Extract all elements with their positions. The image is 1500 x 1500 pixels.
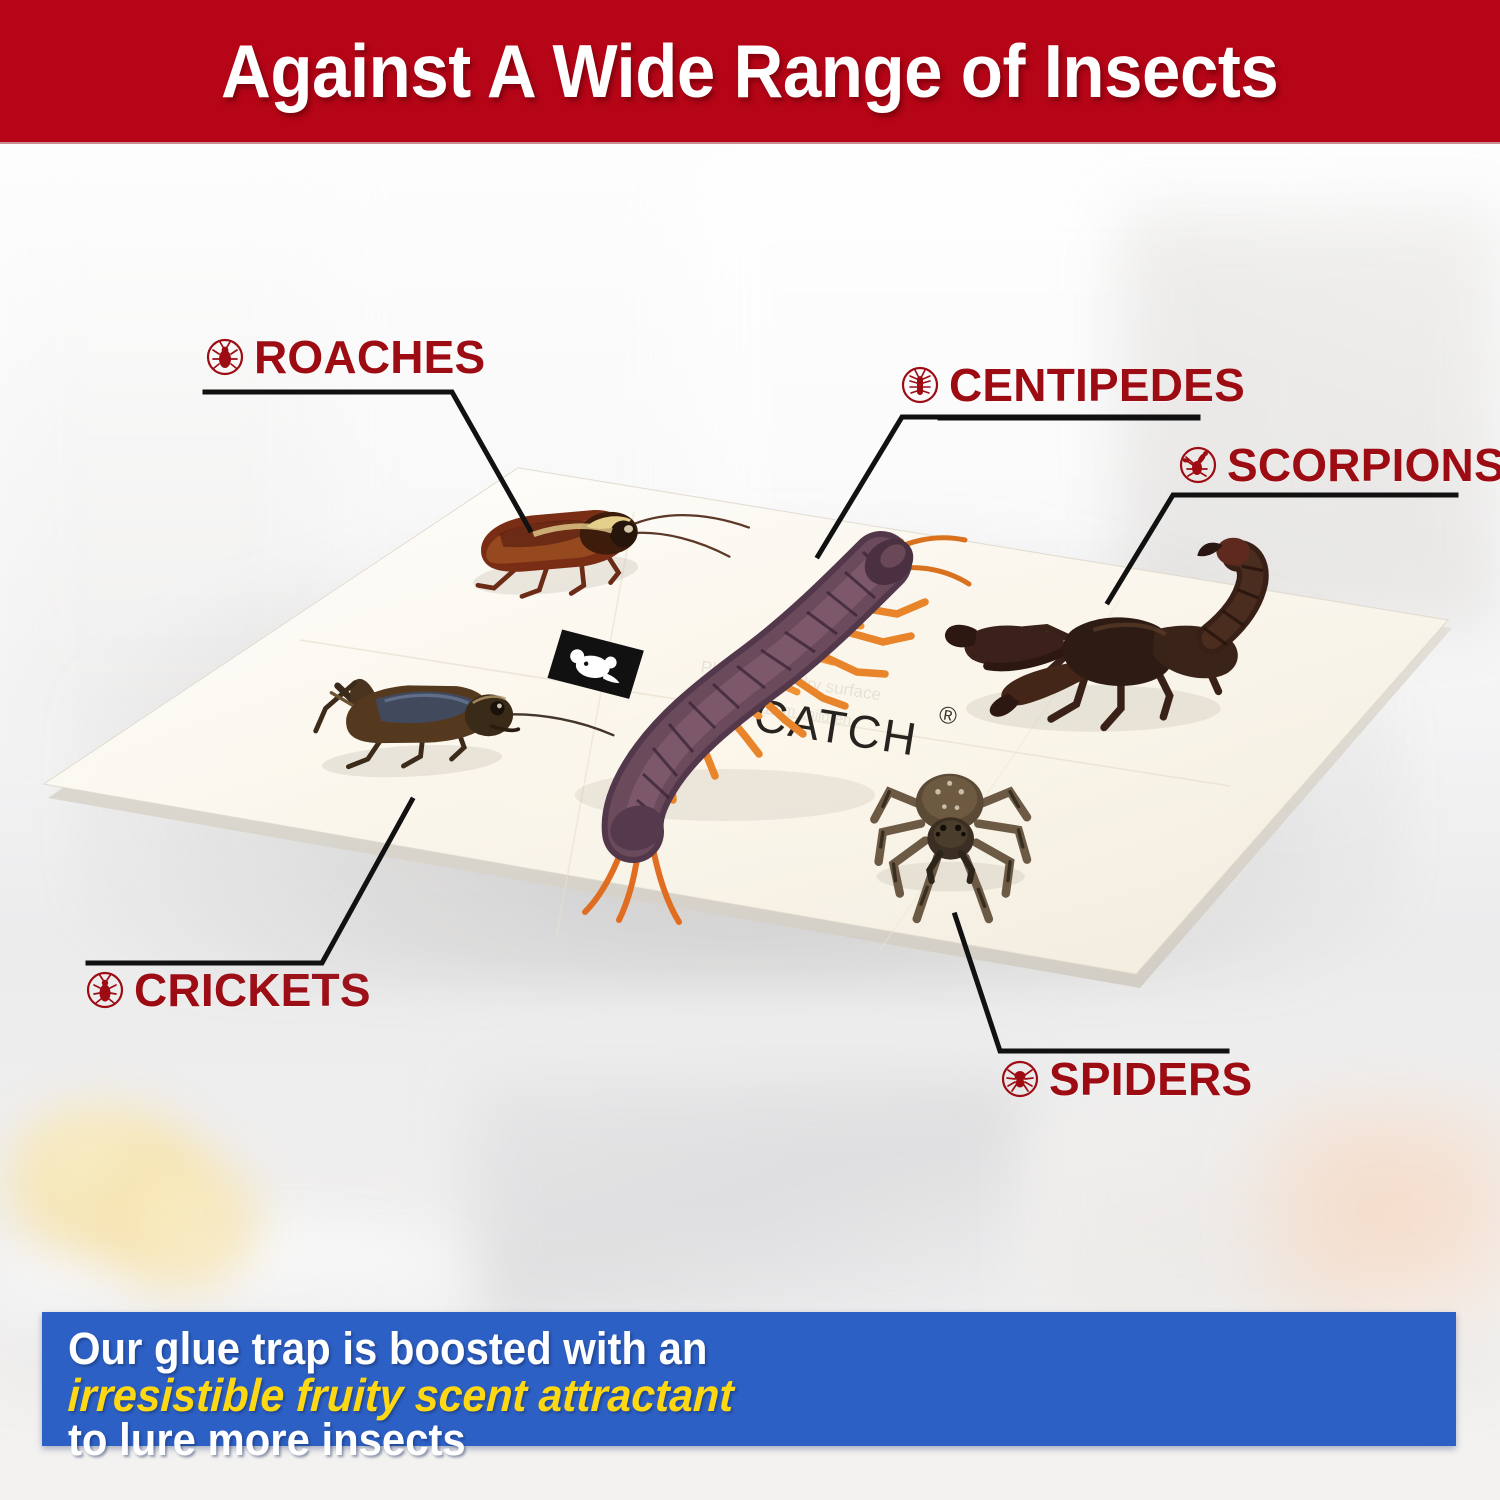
promo-line-2: to lure more insects (68, 1417, 1430, 1463)
promo-plain-text: Our glue trap is boosted with an (68, 1326, 707, 1372)
promo-line-1: Our glue trap is boosted with an irresis… (68, 1326, 1430, 1419)
headline-text: Against A Wide Range of Insects (221, 28, 1278, 114)
promo-line-2-text: to lure more insects (68, 1417, 466, 1463)
glue-trap-scene: Place on flat dry surface keep away from… (0, 0, 1500, 1500)
bottom-promo-banner: Our glue trap is boosted with an irresis… (42, 1312, 1456, 1446)
top-headline-banner: Against A Wide Range of Insects (0, 0, 1500, 142)
promo-highlight-text: irresistible fruity scent attractant (67, 1372, 735, 1419)
glue-trap-board: Place on flat dry surface keep away from… (0, 0, 1500, 1500)
